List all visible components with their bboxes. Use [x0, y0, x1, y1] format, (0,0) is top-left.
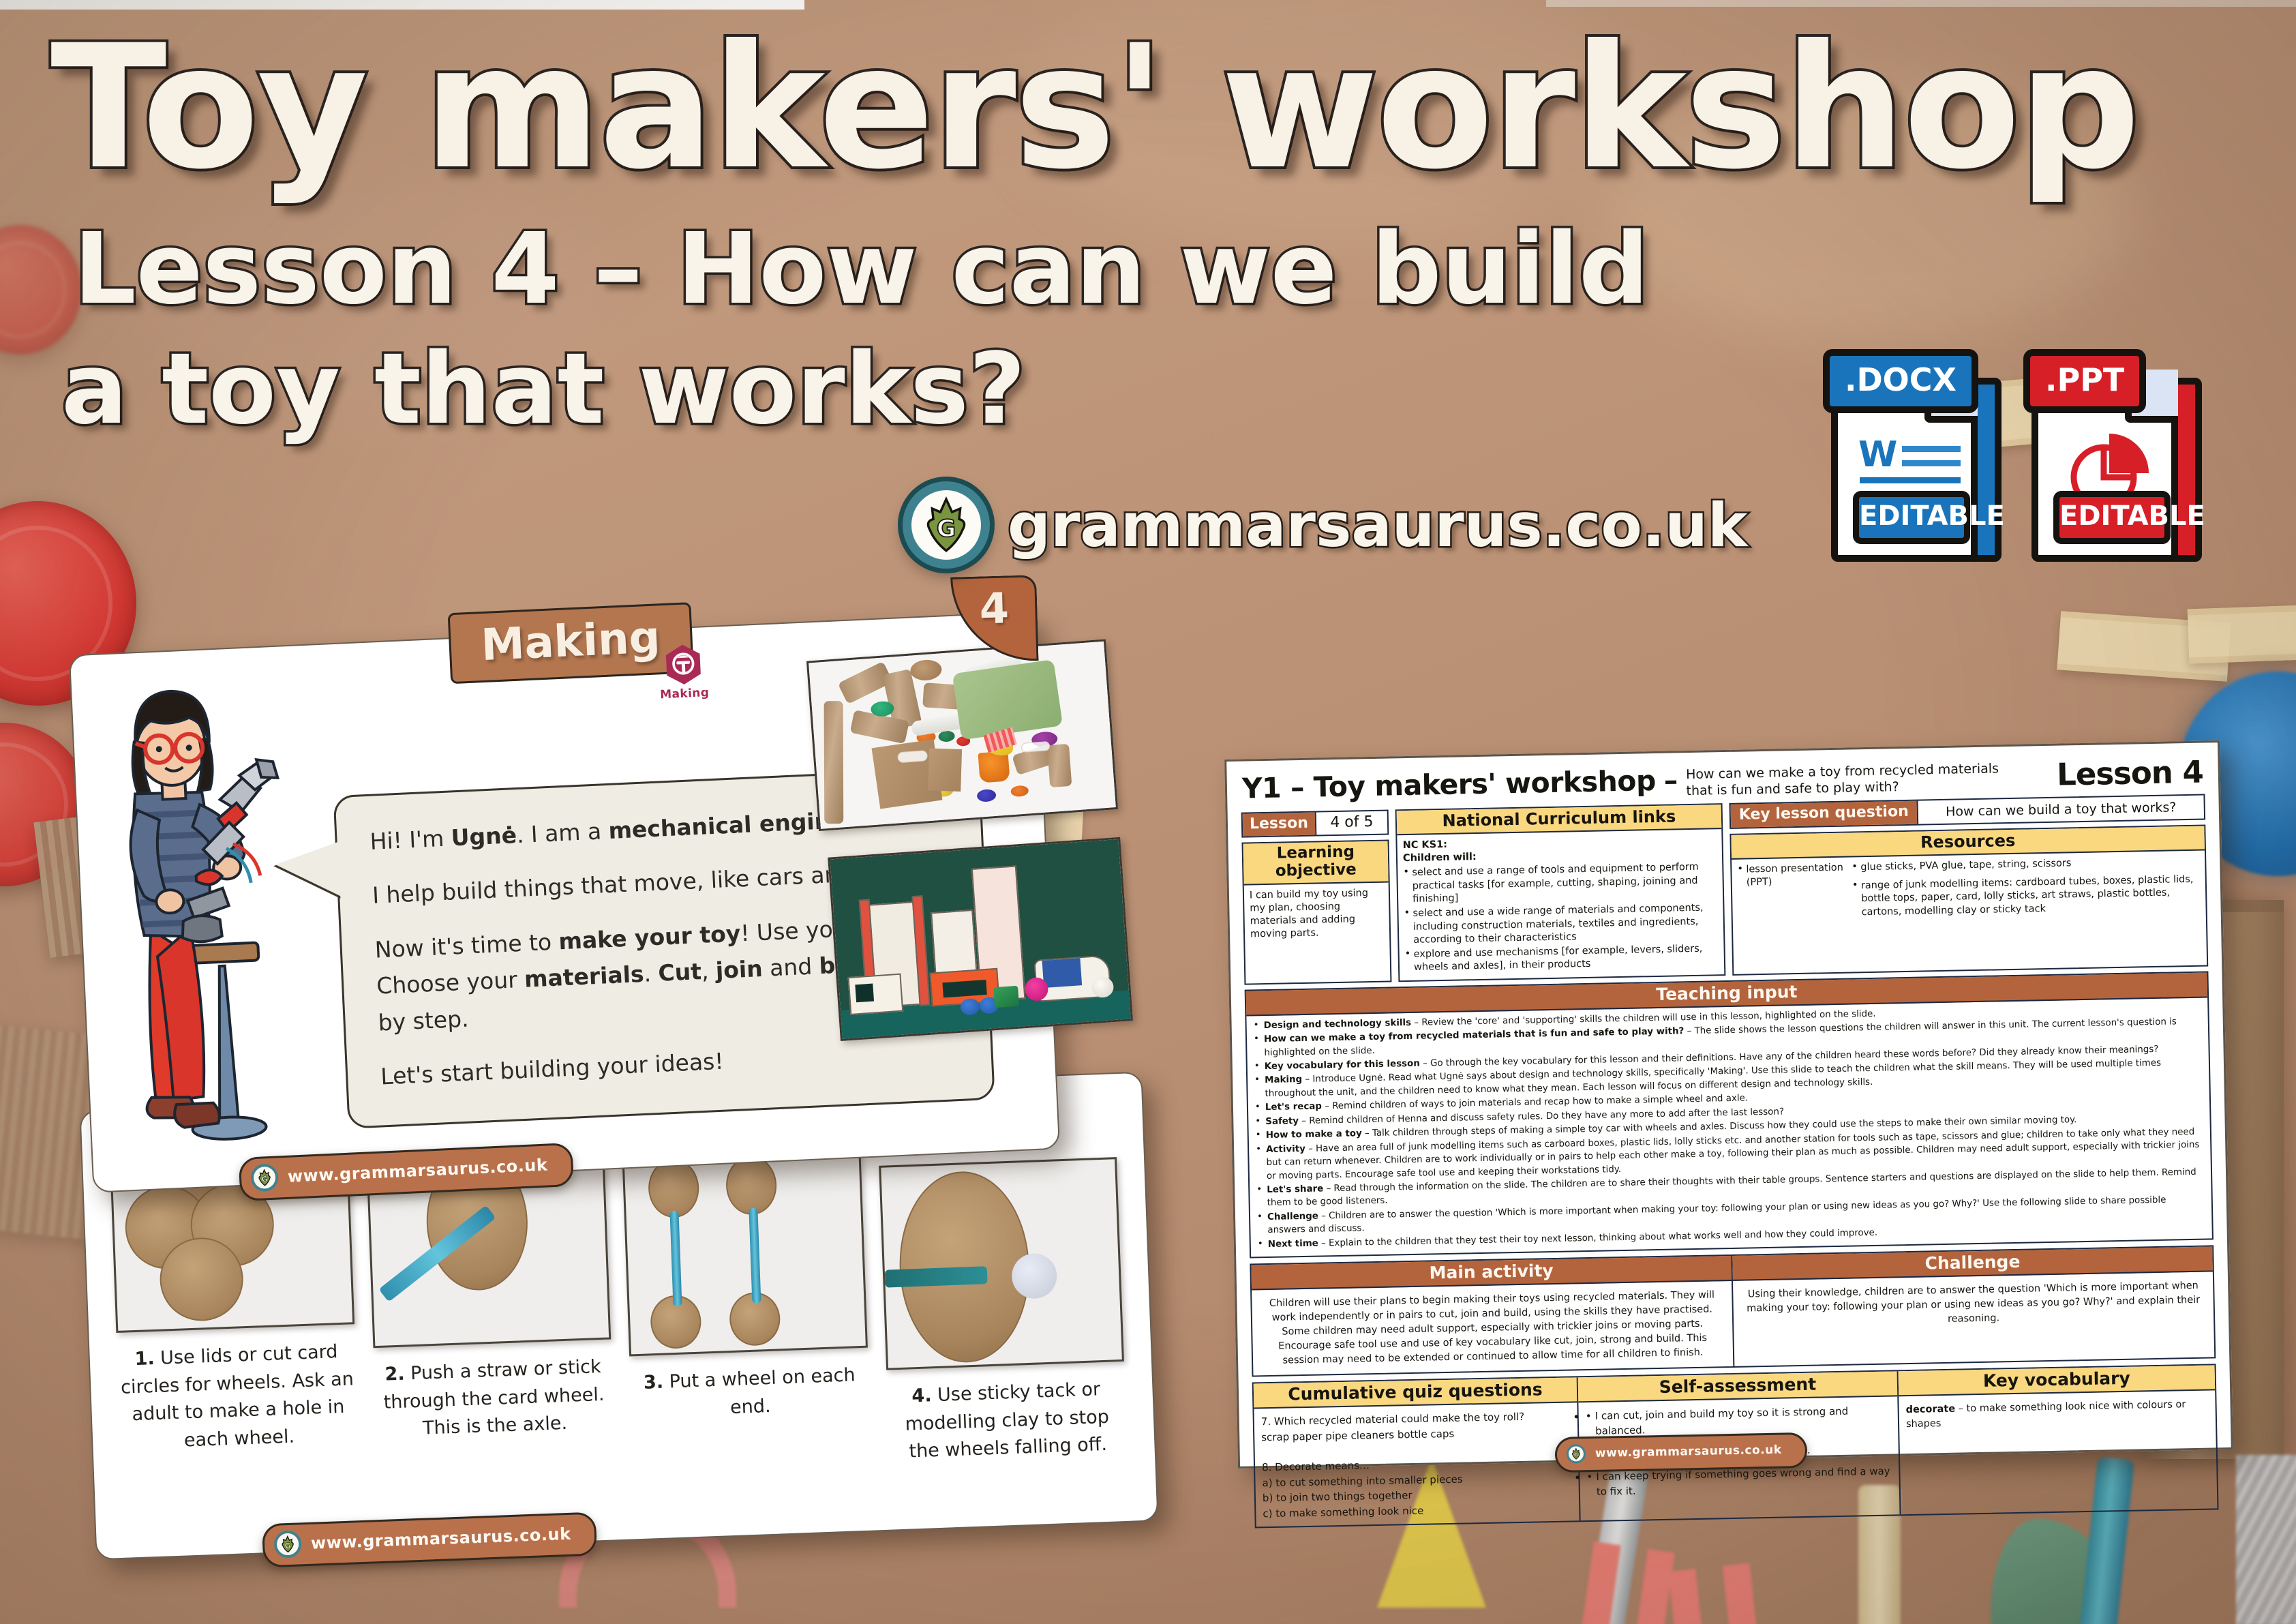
cardboard-box — [928, 749, 962, 792]
nc-item: select and use a wide range of materials… — [1404, 902, 1718, 948]
straw-axle — [669, 1211, 682, 1306]
learning-objective-header: Learning objective — [1243, 841, 1389, 886]
two-axles-with-wheels-photo — [622, 1143, 867, 1357]
plan-left-column: Lesson 4 of 5 Learning objective I can b… — [1241, 810, 1392, 985]
footer-url: www.grammarsaurus.co.uk — [287, 1156, 548, 1186]
speech-line: Let's start building your ideas! — [380, 1032, 959, 1095]
klq-value: How can we build a toy that works? — [1916, 796, 2204, 824]
page-subtitle: Lesson 4 – How can we build a toy that w… — [74, 209, 1792, 449]
challenge-text: Using their knowledge, children are to a… — [1733, 1272, 2214, 1338]
file-extension-label: .DOCX — [1823, 349, 1978, 413]
plane-label — [1042, 958, 1083, 988]
teaching-input-box: Teaching input Design and technology ski… — [1245, 971, 2214, 1259]
key-vocabulary-term: decorate — [1906, 1404, 1956, 1415]
teaching-input-body: Design and technology skills – Review th… — [1246, 997, 2212, 1257]
plan-lesson-number: Lesson 4 — [2057, 754, 2204, 793]
step-text: Use lids or cut card circles for wheels.… — [121, 1341, 354, 1451]
step-caption: 3. Put a wheel on each end. — [630, 1362, 870, 1426]
file-format-badges: W EDITABLE .DOCX EDITABLE — [1831, 357, 2202, 562]
skill-badge-making: Making — [650, 642, 718, 702]
learning-objective-box: Learning objective I can build my toy us… — [1241, 839, 1391, 984]
footer-url: www.grammarsaurus.co.uk — [311, 1524, 571, 1553]
teaching-input-list: Design and technology skills – Review th… — [1253, 1001, 2205, 1251]
svg-text:W: W — [1858, 435, 1897, 475]
lesson-number-field: Lesson 4 of 5 — [1241, 810, 1389, 838]
step-text: Use sticky tack or modelling clay to sto… — [905, 1379, 1109, 1462]
skill-badge-label: Making — [652, 686, 718, 702]
plan-unit-title: Y1 – Toy makers' workshop — [1242, 764, 1657, 805]
plastic-spoon — [897, 750, 928, 763]
nc-body: NC KS1: Children will: select and use a … — [1397, 829, 1724, 980]
step-caption: 2. Push a straw or stick through the car… — [374, 1353, 615, 1444]
ugne-character-illustration — [91, 668, 337, 1155]
yoghurt-pot — [978, 751, 1010, 783]
national-curriculum-box: National Curriculum links NC KS1: Childr… — [1395, 803, 1726, 982]
docx-badge[interactable]: W EDITABLE .DOCX — [1831, 357, 2002, 562]
resources-body: lesson presentation (PPT) glue sticks, P… — [1732, 850, 2206, 931]
page-title: Toy makers' workshop — [50, 20, 1837, 194]
grammarsaurus-dinosaur-logo: G — [903, 481, 990, 569]
editable-label: EDITABLE — [2053, 491, 2171, 544]
gear-hexagon-icon — [661, 642, 706, 687]
svg-text:G: G — [261, 1175, 268, 1184]
nc-item: explore and use mechanisms [for example,… — [1405, 942, 1719, 974]
resources-column-1: lesson presentation (PPT) — [1737, 861, 1853, 927]
grammarsaurus-dinosaur-logo: G — [273, 1530, 301, 1558]
plan-right-column: Key lesson question How can we build a t… — [1729, 794, 2209, 976]
step-number: 3. — [643, 1372, 663, 1394]
brand-lockup: G grammarsaurus.co.uk — [903, 481, 1747, 569]
cardboard-tube — [824, 701, 844, 824]
activity-challenge-row: Main activity Children will use their pl… — [1250, 1246, 2216, 1377]
speech-bubble-tail — [275, 841, 343, 900]
nc-item: select and use a range of tools and equi… — [1403, 861, 1717, 907]
vehicle-window — [855, 984, 874, 1003]
key-vocabulary-entry: decorate – to make something look nice w… — [1899, 1391, 2216, 1438]
editable-label: EDITABLE — [1853, 491, 1970, 544]
ppt-badge[interactable]: EDITABLE .PPT — [2031, 357, 2202, 562]
grammarsaurus-dinosaur-logo: G — [250, 1163, 279, 1192]
step-item: 3. Put a wheel on each end. — [622, 1143, 872, 1476]
plan-top-row: Lesson 4 of 5 Learning objective I can b… — [1241, 794, 2209, 985]
quiz-box: Cumulative quiz questions 7. Which recyc… — [1254, 1378, 1580, 1527]
grammarsaurus-dinosaur-logo: G — [1567, 1444, 1586, 1464]
resources-box: Resources lesson presentation (PPT) glue… — [1729, 825, 2208, 976]
resources-column-2: glue sticks, PVA glue, tape, string, sci… — [1852, 855, 2201, 925]
step-caption: 4. Use sticky tack or modelling clay to … — [886, 1375, 1128, 1467]
title-block: Toy makers' workshop Lesson 4 – How can … — [50, 20, 1837, 449]
step-caption: 1. Use lids or cut card circles for whee… — [117, 1338, 359, 1457]
lesson-label: Lesson — [1243, 813, 1316, 837]
main-activity-box: Main activity Children will use their pl… — [1251, 1256, 1733, 1376]
junk-model-buildings-photo — [828, 837, 1133, 1041]
svg-text:G: G — [1574, 1452, 1578, 1458]
svg-text:G: G — [284, 1542, 291, 1550]
subtitle-line-1: Lesson 4 – How can we build — [74, 211, 1649, 326]
junk-modelling-materials-photo — [806, 640, 1118, 832]
lesson-value: 4 of 5 — [1315, 811, 1388, 835]
step-number: 1. — [134, 1348, 155, 1370]
nc-list: select and use a range of tools and equi… — [1403, 861, 1719, 975]
quiz-body: 7. Which recycled material could make th… — [1254, 1403, 1579, 1527]
klq-label: Key lesson question — [1731, 801, 1918, 828]
step-number: 4. — [911, 1385, 932, 1407]
straw-axle — [884, 1266, 987, 1287]
green-cap — [993, 986, 1019, 1008]
key-vocabulary-box: Key vocabulary decorate – to make someth… — [1897, 1366, 2218, 1515]
plan-unit-question: How can we make a toy from recycled mate… — [1686, 757, 2007, 800]
footer-url: www.grammarsaurus.co.uk — [1595, 1443, 1782, 1460]
brand-name: grammarsaurus.co.uk — [1008, 490, 1747, 560]
step-text: Push a straw or stick through the card w… — [383, 1356, 605, 1439]
slide-card-making[interactable]: 4 Making Making — [69, 611, 1060, 1193]
challenge-box: Challenge Using their knowledge, childre… — [1731, 1247, 2214, 1367]
cardboard-tube — [1047, 744, 1072, 787]
vehicle-window — [942, 980, 986, 997]
main-activity-text: Children will use their plans to begin m… — [1252, 1281, 1733, 1376]
learning-objective-text: I can build my toy using my plan, choosi… — [1244, 882, 1390, 946]
plan-footer-brand: G www.grammarsaurus.co.uk — [1554, 1432, 1807, 1473]
file-extension-label: .PPT — [2023, 349, 2146, 413]
plan-dash: – — [1663, 764, 1678, 796]
resource-item: glue sticks, PVA glue, tape, string, sci… — [1852, 855, 2199, 875]
straw-axle — [749, 1207, 761, 1303]
resource-item: range of junk modelling items: cardboard… — [1852, 873, 2201, 920]
step-item: 4. Use sticky tack or modelling clay to … — [879, 1157, 1128, 1467]
card-wheel — [725, 1155, 778, 1216]
subtitle-line-2: a toy that works? — [61, 329, 1792, 449]
step-text: Put a wheel on each end. — [669, 1364, 856, 1417]
lesson-plan-sheet[interactable]: Y1 – Toy makers' workshop – How can we m… — [1224, 740, 2233, 1469]
resource-item: lesson presentation (PPT) — [1737, 861, 1852, 890]
svg-text:G: G — [937, 515, 956, 543]
step-number: 2. — [384, 1364, 405, 1385]
sticky-tack-on-axle-photo — [879, 1157, 1124, 1370]
